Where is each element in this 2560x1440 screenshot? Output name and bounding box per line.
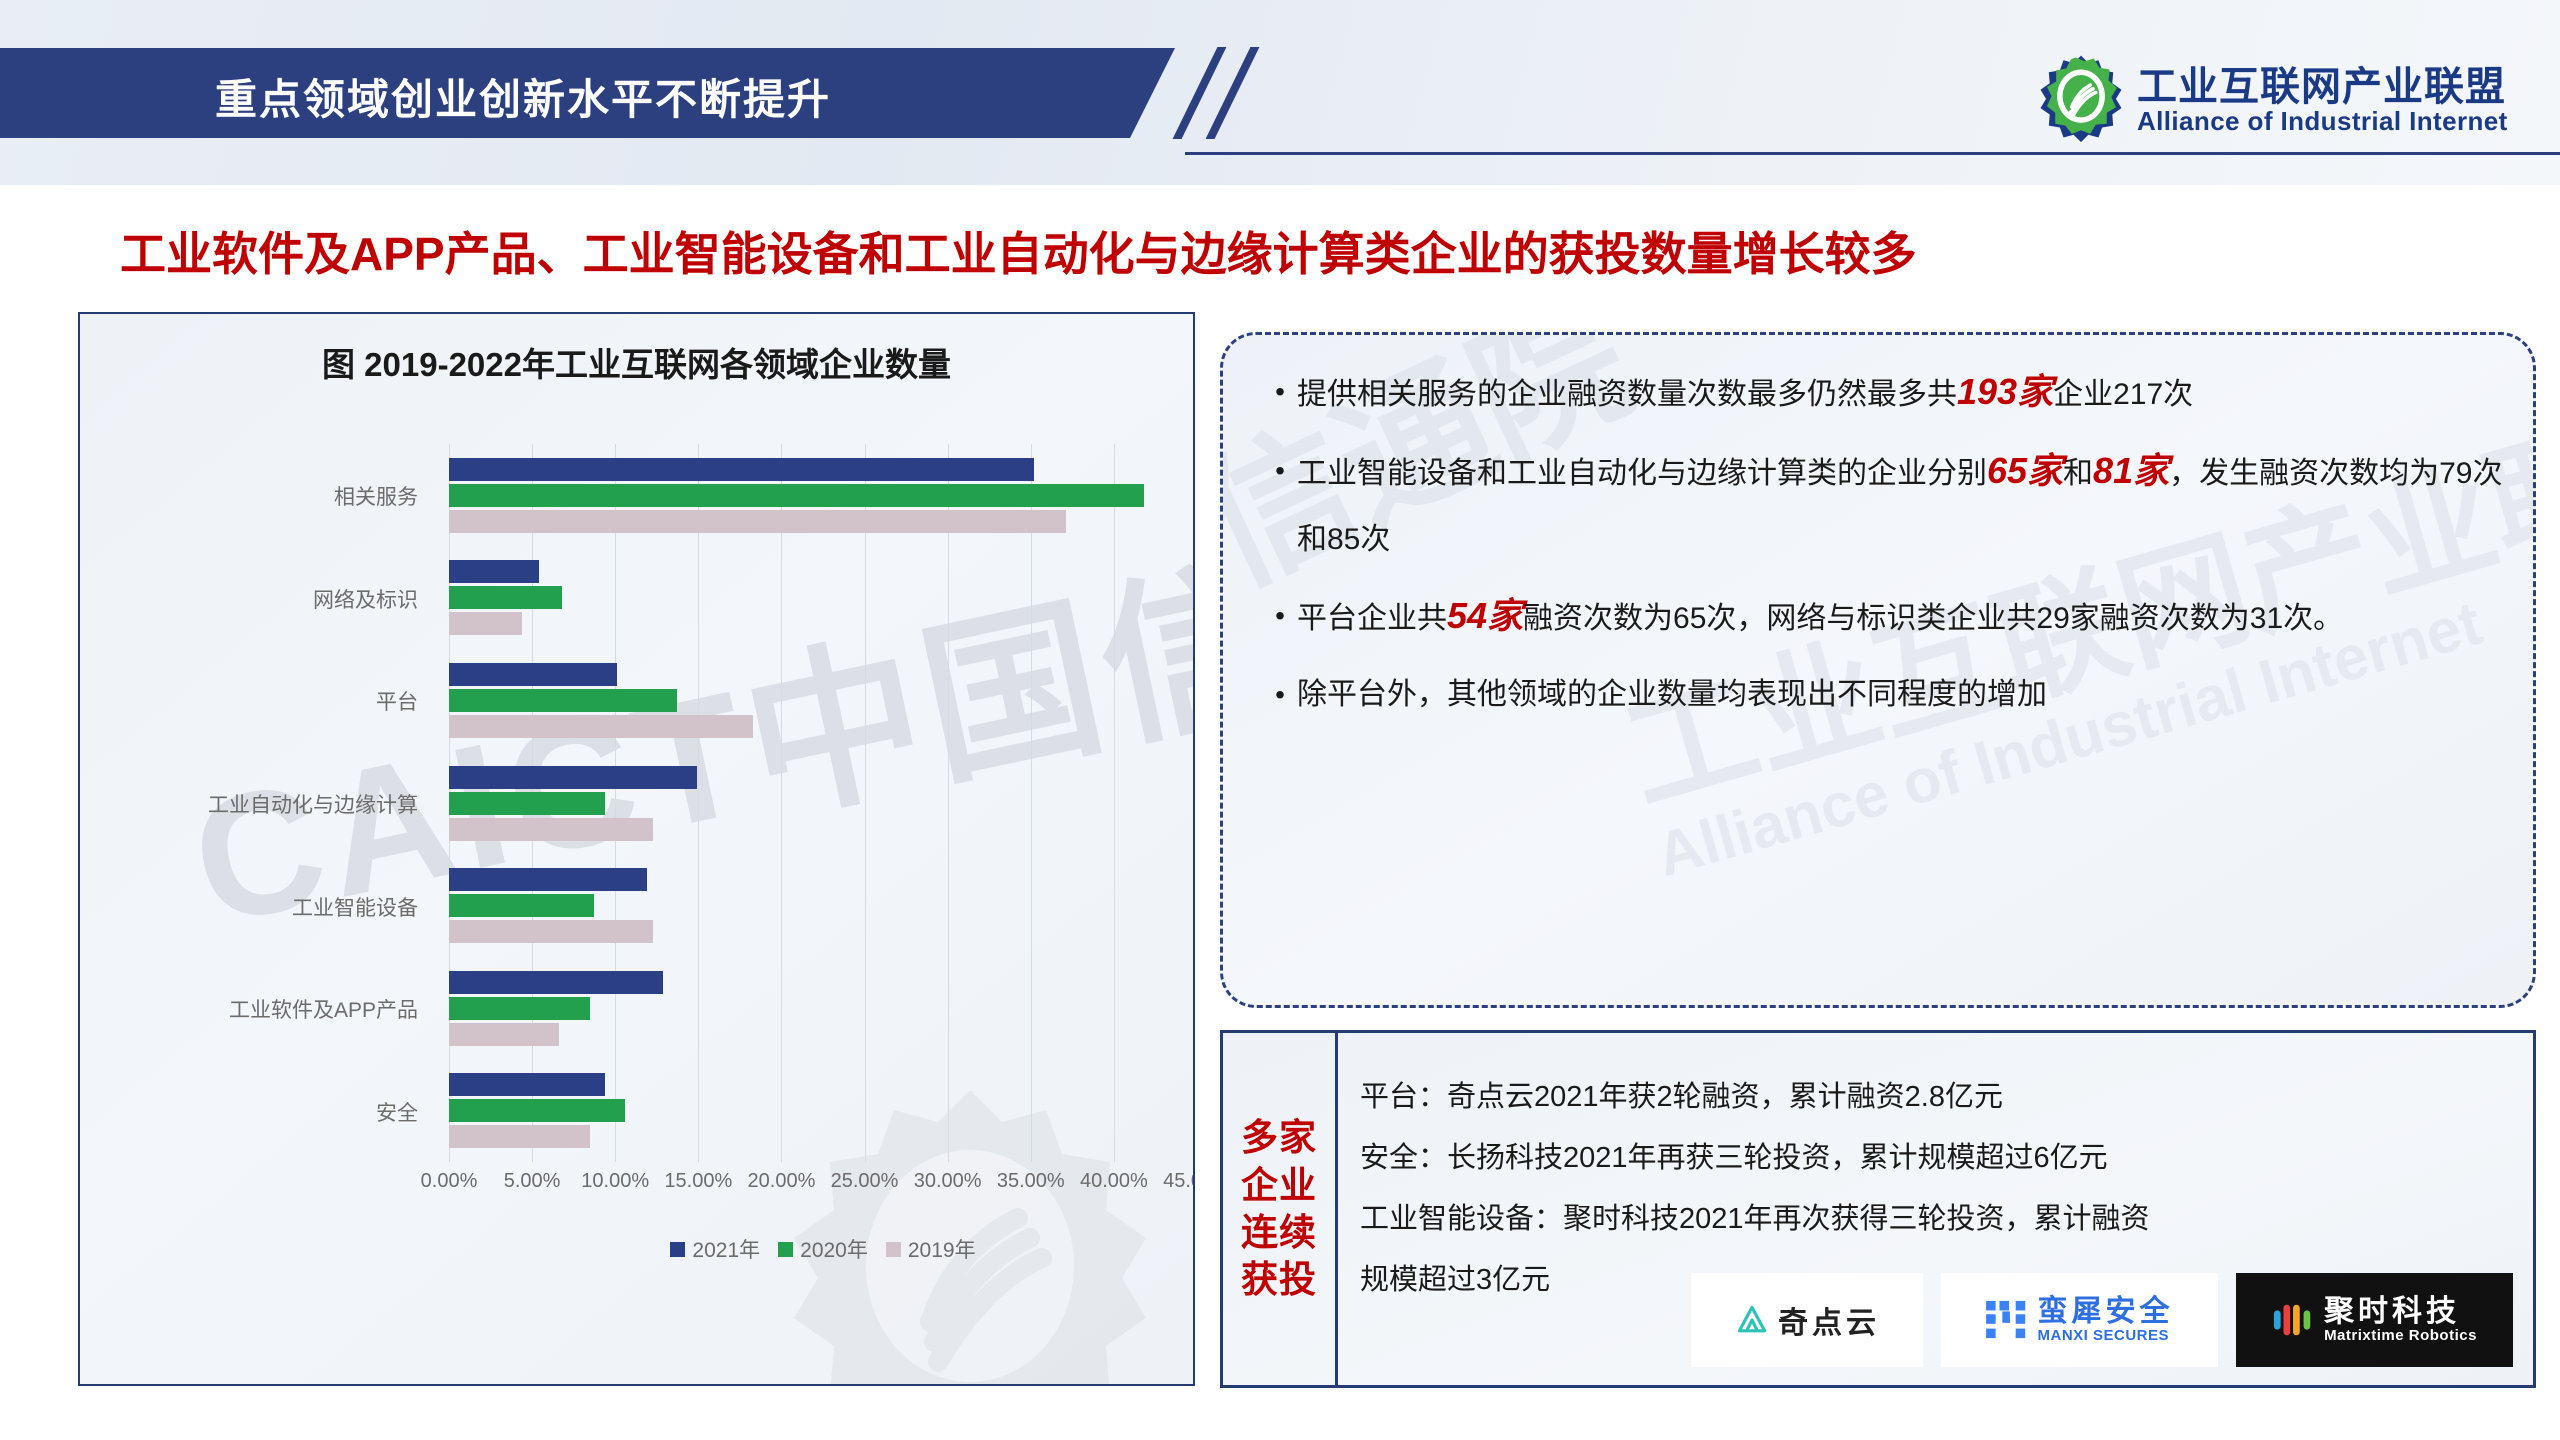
manxi-logo-en: MANXI SECURES xyxy=(2038,1327,2174,1344)
bullet-text: 平台企业共54家融资次数为65次，网络与标识类企业共29家融资次数为31次。 xyxy=(1297,583,2503,652)
chart-category-label: 工业智能设备 xyxy=(98,892,418,922)
chart-bar-2020年 xyxy=(449,484,1144,507)
chart-legend-item[interactable]: 2020年 xyxy=(778,1234,868,1264)
qidianyun-logo-text: 奇点云 xyxy=(1778,1298,1880,1342)
continuous-investment-content: 平台：奇点云2021年获2轮融资，累计融资2.8亿元安全：长扬科技2021年再获… xyxy=(1338,1033,2533,1385)
continuous-investment-side-label: 多家企业连续获投 xyxy=(1223,1033,1338,1385)
chart-card: CAICT中国信通院 图 2019-2022年工业互联网各领域企业数量 相关服务… xyxy=(78,312,1195,1386)
side-label-line: 多家 xyxy=(1241,1114,1317,1161)
bullet-text: 提供相关服务的企业融资数量次数最多仍然最多共193家企业217次 xyxy=(1297,359,2503,428)
triangle-a-icon xyxy=(1734,1302,1770,1338)
chart-legend-label: 2021年 xyxy=(692,1234,760,1264)
gear-wifi-logo-icon xyxy=(2035,52,2127,144)
investment-row: 平台：奇点云2021年获2轮融资，累计融资2.8亿元 xyxy=(1360,1067,2533,1128)
chart-category-label: 工业软件及APP产品 xyxy=(98,994,418,1024)
header-rule xyxy=(1185,152,2560,155)
bullet-plain: 平台企业共 xyxy=(1297,602,1447,635)
bullet-marker: • xyxy=(1263,583,1297,649)
chart-bar-2020年 xyxy=(449,997,590,1020)
chart-gridline xyxy=(615,444,616,1162)
investment-row: 安全：长扬科技2021年再获三轮投资，累计规模超过6亿元 xyxy=(1360,1128,2533,1189)
chart-x-tick-label: 0.00% xyxy=(421,1170,478,1193)
manxi-secures-logo: 蛮犀安全 MANXI SECURES xyxy=(1941,1273,2218,1367)
chart-gridline xyxy=(1114,444,1115,1162)
chart-x-tick-label: 15.00% xyxy=(664,1170,732,1193)
chart-x-tick-label: 45.00% xyxy=(1163,1170,1195,1193)
insight-bullet: •工业智能设备和工业自动化与边缘计算类的企业分别65家和81家，发生融资次数均为… xyxy=(1263,438,2503,573)
chart-bar-2021年 xyxy=(449,971,663,994)
chart-bar-2019年 xyxy=(449,920,653,943)
chart-legend-swatch xyxy=(886,1242,901,1257)
manxi-logo-cn: 蛮犀安全 xyxy=(2038,1296,2174,1328)
logo-chinese-name: 工业互联网产业联盟 xyxy=(2137,54,2506,112)
header-band: 重点领域创业创新水平不断提升 工业互联网产业联盟 Alliance of Ind… xyxy=(0,0,2560,185)
continuous-investment-card: 多家企业连续获投 平台：奇点云2021年获2轮融资，累计融资2.8亿元安全：长扬… xyxy=(1220,1030,2536,1388)
chart-category-label: 网络及标识 xyxy=(98,584,418,614)
chart-bar-2020年 xyxy=(449,689,677,712)
chart-bar-2021年 xyxy=(449,458,1034,481)
chart-x-tick-label: 40.00% xyxy=(1080,1170,1148,1193)
m-blocks-icon xyxy=(1986,1299,2032,1341)
chart-bar-2019年 xyxy=(449,612,522,635)
bullet-marker: • xyxy=(1263,359,1297,425)
chart-gridline xyxy=(948,444,949,1162)
bullet-highlight: 54家 xyxy=(1447,595,1523,636)
chart-bar-2019年 xyxy=(449,818,653,841)
chart-gridline xyxy=(698,444,699,1162)
chart-legend-swatch xyxy=(670,1242,685,1257)
bullet-marker: • xyxy=(1263,662,1297,728)
bullet-text: 工业智能设备和工业自动化与边缘计算类的企业分别65家和81家，发生融资次数均为7… xyxy=(1297,438,2503,573)
chart-category-label: 相关服务 xyxy=(98,481,418,511)
chart-plot-area: 相关服务网络及标识平台工业自动化与边缘计算工业智能设备工业软件及APP产品安全 … xyxy=(366,444,1180,1386)
chart-legend-item[interactable]: 2021年 xyxy=(670,1234,760,1264)
chart-x-tick-label: 10.00% xyxy=(581,1170,649,1193)
insight-bullet: •除平台外，其他领域的企业数量均表现出不同程度的增加 xyxy=(1263,662,2503,728)
chart-category-label: 安全 xyxy=(98,1097,418,1127)
bullet-plain: 除平台外，其他领域的企业数量均表现出不同程度的增加 xyxy=(1297,678,2047,711)
alliance-logo: 工业互联网产业联盟 Alliance of Industrial Interne… xyxy=(2035,50,2535,145)
bullet-marker: • xyxy=(1263,438,1297,504)
insight-bullet: •提供相关服务的企业融资数量次数最多仍然最多共193家企业217次 xyxy=(1263,359,2503,428)
insights-card: 信通院 工业互联网产业联盟 Alliance of Industrial Int… xyxy=(1220,332,2536,1008)
bullet-highlight: 65家 xyxy=(1987,450,2063,491)
bullet-plain: 和 xyxy=(2063,457,2093,490)
chart-bar-2020年 xyxy=(449,894,594,917)
insights-bullet-list: •提供相关服务的企业融资数量次数最多仍然最多共193家企业217次•工业智能设备… xyxy=(1263,359,2503,738)
chart-gridline xyxy=(781,444,782,1162)
company-logo-strip: 奇点云 蛮犀安全 MANXI SECURES xyxy=(1691,1273,2513,1367)
investment-row: 工业智能设备：聚时科技2021年再次获得三轮投资，累计融资 xyxy=(1360,1189,2533,1250)
chart-bar-2019年 xyxy=(449,1023,559,1046)
chart-bar-2021年 xyxy=(449,766,697,789)
bullet-text: 除平台外，其他领域的企业数量均表现出不同程度的增加 xyxy=(1297,662,2503,728)
header-title: 重点领域创业创新水平不断提升 xyxy=(215,66,831,127)
color-bars-icon xyxy=(2272,1300,2316,1340)
chart-bar-2021年 xyxy=(449,868,647,891)
chart-category-label: 工业自动化与边缘计算 xyxy=(98,789,418,819)
chart-bar-2021年 xyxy=(449,560,539,583)
chart-bar-2020年 xyxy=(449,1099,625,1122)
chart-title: 图 2019-2022年工业互联网各领域企业数量 xyxy=(80,338,1193,386)
chart-legend: 2021年2020年2019年 xyxy=(449,1234,1195,1264)
bullet-plain: 提供相关服务的企业融资数量次数最多仍然最多共 xyxy=(1297,378,1957,411)
matrixtime-logo-en: Matrixtime Robotics xyxy=(2324,1327,2477,1344)
chart-bar-2021年 xyxy=(449,663,617,686)
bullet-highlight: 81家 xyxy=(2093,450,2169,491)
chart-x-tick-label: 20.00% xyxy=(748,1170,816,1193)
qidianyun-logo: 奇点云 xyxy=(1691,1273,1923,1367)
side-label-line: 获投 xyxy=(1241,1256,1317,1303)
chart-bar-2020年 xyxy=(449,586,562,609)
chart-gridline xyxy=(1031,444,1032,1162)
bullet-plain: 融资次数为65次，网络与标识类企业共29家融资次数为31次。 xyxy=(1523,602,2343,635)
chart-bar-2019年 xyxy=(449,1125,590,1148)
matrixtime-robotics-logo: 聚时科技 Matrixtime Robotics xyxy=(2236,1273,2513,1367)
matrixtime-logo-cn: 聚时科技 xyxy=(2324,1296,2477,1328)
chart-x-tick-label: 35.00% xyxy=(997,1170,1065,1193)
chart-legend-item[interactable]: 2019年 xyxy=(886,1234,976,1264)
bullet-highlight: 193家 xyxy=(1957,371,2053,412)
side-label-line: 连续 xyxy=(1241,1209,1317,1256)
page-title: 工业软件及APP产品、工业智能设备和工业自动化与边缘计算类企业的获投数量增长较多 xyxy=(120,218,1917,284)
chart-bar-2021年 xyxy=(449,1073,605,1096)
chart-x-tick-label: 5.00% xyxy=(504,1170,561,1193)
chart-legend-label: 2020年 xyxy=(800,1234,868,1264)
chart-bar-2019年 xyxy=(449,715,753,738)
chart-x-tick-label: 30.00% xyxy=(914,1170,982,1193)
bullet-plain: 企业217次 xyxy=(2053,378,2193,411)
chart-x-tick-label: 25.00% xyxy=(831,1170,899,1193)
chart-bar-2020年 xyxy=(449,792,605,815)
chart-legend-swatch xyxy=(778,1242,793,1257)
chart-gridline xyxy=(865,444,866,1162)
insight-bullet: •平台企业共54家融资次数为65次，网络与标识类企业共29家融资次数为31次。 xyxy=(1263,583,2503,652)
bullet-plain: 工业智能设备和工业自动化与边缘计算类的企业分别 xyxy=(1297,457,1987,490)
chart-legend-label: 2019年 xyxy=(908,1234,976,1264)
chart-category-label: 平台 xyxy=(98,686,418,716)
chart-bar-2019年 xyxy=(449,510,1066,533)
side-label-line: 企业 xyxy=(1241,1162,1317,1209)
logo-english-name: Alliance of Industrial Internet xyxy=(2137,106,2508,137)
